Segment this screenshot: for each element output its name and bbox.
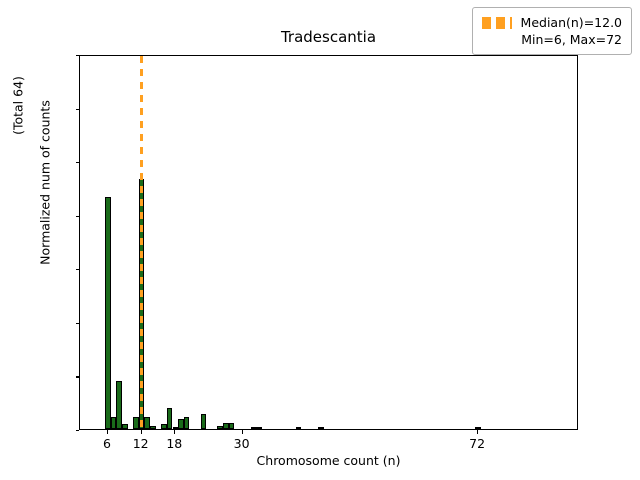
x-axis-tick-label: 30	[234, 436, 250, 451]
bar	[257, 427, 263, 429]
bar	[167, 408, 173, 429]
legend-item-minmax: Min=6, Max=72	[482, 31, 622, 48]
x-axis-tick	[242, 430, 243, 434]
y-axis-tick	[76, 430, 80, 431]
legend-label-minmax: Min=6, Max=72	[521, 31, 622, 48]
y-axis-label-secondary: (Total 64)	[11, 0, 26, 216]
x-axis-tick	[107, 430, 108, 434]
bar	[150, 426, 156, 429]
bar	[229, 423, 235, 429]
bar	[184, 417, 190, 429]
dashed-line-icon	[482, 17, 512, 29]
bar	[122, 424, 128, 429]
bar	[201, 414, 207, 429]
x-axis-tick	[477, 430, 478, 434]
median-line	[140, 56, 143, 429]
plot-area	[79, 55, 578, 430]
bar	[318, 427, 324, 429]
chart-figure: Tradescantia Normalized num of counts (T…	[0, 0, 640, 480]
x-axis-tick-label: 72	[469, 436, 485, 451]
bar	[105, 197, 111, 430]
x-axis-tick-label: 6	[103, 436, 111, 451]
x-axis-tick	[174, 430, 175, 434]
bar	[475, 427, 481, 429]
bar	[296, 427, 302, 429]
legend-label-median: Median(n)=12.0	[521, 14, 622, 31]
x-axis-tick	[141, 430, 142, 434]
x-axis-label: Chromosome count (n)	[79, 453, 578, 468]
legend-item-median: Median(n)=12.0	[482, 14, 622, 31]
bar	[116, 381, 122, 429]
y-axis-label: Normalized num of counts	[38, 0, 53, 383]
x-axis-tick-label: 12	[133, 436, 149, 451]
chart-legend: Median(n)=12.0 Min=6, Max=72	[472, 7, 632, 55]
x-axis-tick-label: 18	[166, 436, 182, 451]
